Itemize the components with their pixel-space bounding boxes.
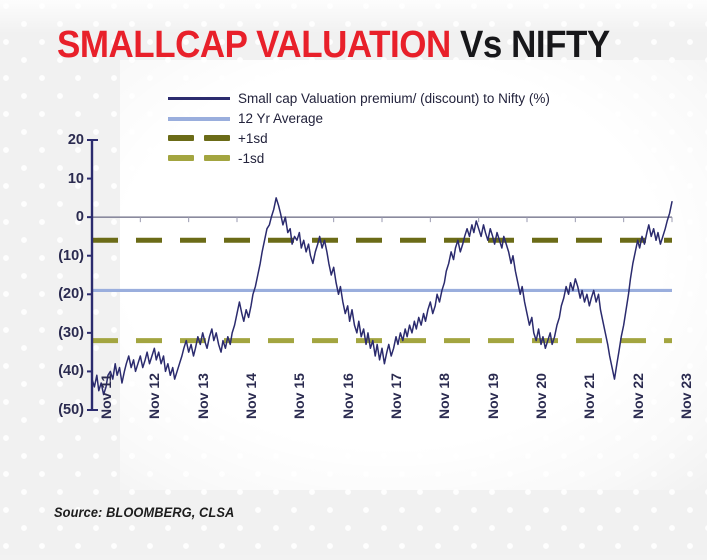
x-axis-label: Nov 16	[340, 373, 356, 419]
x-axis-label: Nov 13	[195, 373, 211, 419]
x-axis-label: Nov 11	[98, 374, 114, 419]
y-axis-label: 10	[40, 171, 84, 187]
y-axis-label: (50)	[40, 402, 84, 418]
y-axis-label: (10)	[40, 248, 84, 264]
x-axis-label: Nov 22	[630, 373, 646, 419]
y-axis-label: (30)	[40, 325, 84, 341]
chart-plot-area: 20100(10)(20)(30)(40)(50)Nov 11Nov 12Nov…	[0, 0, 707, 555]
y-axis-label: (40)	[40, 363, 84, 379]
y-axis-label: 20	[40, 132, 84, 148]
series-line-1	[92, 198, 672, 395]
x-axis-label: Nov 21	[581, 373, 597, 419]
x-axis-label: Nov 15	[291, 373, 307, 419]
x-axis-label: Nov 20	[533, 373, 549, 419]
x-axis-label: Nov 12	[146, 373, 162, 419]
source-note: Source: BLOOMBERG, CLSA	[54, 505, 234, 520]
x-axis-label: Nov 19	[485, 373, 501, 419]
chart-svg	[0, 0, 707, 555]
y-axis-label: (20)	[40, 286, 84, 302]
y-axis-label: 0	[40, 209, 84, 225]
x-axis-label: Nov 14	[243, 373, 259, 419]
x-axis-label: Nov 17	[388, 373, 404, 419]
x-axis-label: Nov 18	[436, 373, 452, 419]
x-axis-label: Nov 23	[678, 373, 694, 419]
